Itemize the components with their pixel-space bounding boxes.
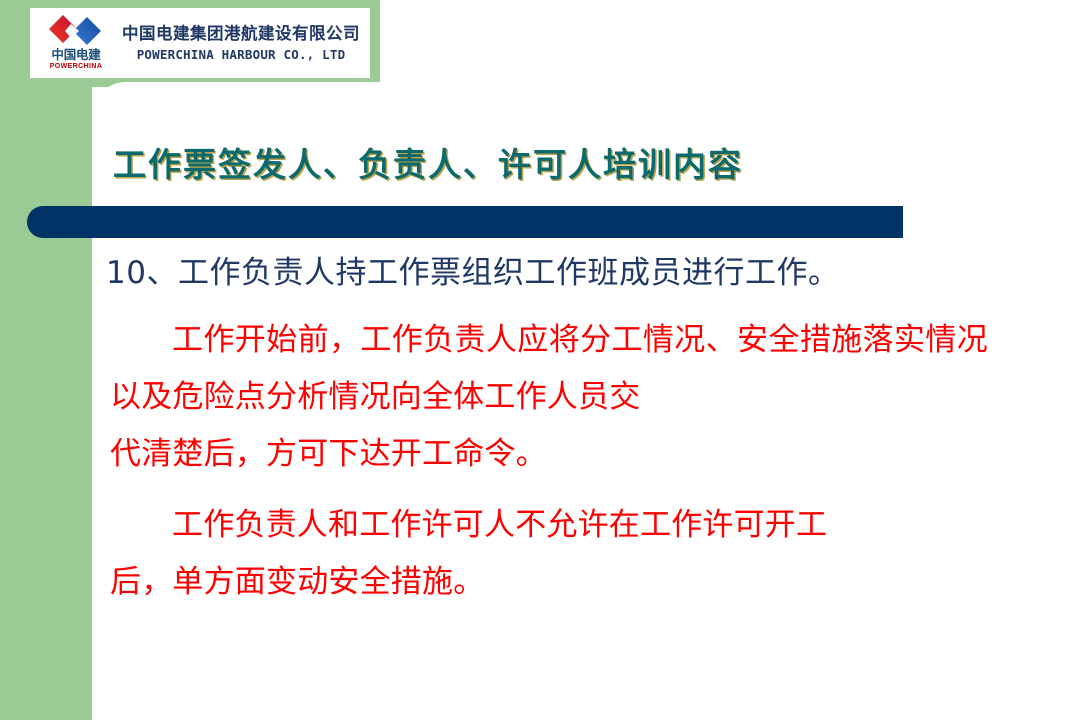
body-paragraph-1-last: 代清楚后，方可下达开工命令。 bbox=[110, 426, 988, 483]
body-paragraph-2-main: 工作负责人和工作许可人不允许在工作许可开工 bbox=[172, 507, 827, 543]
body-paragraph-1-main: 工作开始前，工作负责人应将分工情况、安全措施落实情况以及危险点分析情况向全体工作… bbox=[110, 322, 988, 415]
body-paragraph-1: 工作开始前，工作负责人应将分工情况、安全措施落实情况以及危险点分析情况向全体工作… bbox=[92, 312, 988, 483]
slide-body: 10、工作负责人持工作票组织工作班成员进行工作。 工作开始前，工作负责人应将分工… bbox=[92, 250, 992, 611]
company-name-cn: 中国电建集团港航建设有限公司 bbox=[122, 23, 360, 45]
body-numbered-item: 10、工作负责人持工作票组织工作班成员进行工作。 bbox=[92, 250, 992, 296]
company-name-en: POWERCHINA HARBOUR CO., LTD bbox=[137, 45, 346, 64]
company-logo-box: 中国电建 POWERCHINA 中国电建集团港航建设有限公司 POWERCHIN… bbox=[30, 8, 370, 78]
body-paragraph-2: 工作负责人和工作许可人不允许在工作许可开工后，单方面变动安全措施。 bbox=[92, 497, 988, 611]
powerchina-diamond-icon bbox=[49, 15, 103, 47]
left-green-sidebar bbox=[0, 0, 92, 720]
company-name-block: 中国电建集团港航建设有限公司 POWERCHINA HARBOUR CO., L… bbox=[118, 23, 370, 64]
powerchina-logo: 中国电建 POWERCHINA bbox=[34, 10, 118, 76]
body-paragraph-2-last: 后，单方面变动安全措施。 bbox=[110, 554, 988, 611]
slide-canvas: 中国电建 POWERCHINA 中国电建集团港航建设有限公司 POWERCHIN… bbox=[0, 0, 1080, 720]
title-underline-bar bbox=[27, 206, 903, 238]
slide-title: 工作票签发人、负责人、许可人培训内容 bbox=[113, 138, 973, 186]
logo-brand-cn: 中国电建 bbox=[51, 49, 100, 62]
logo-brand-en: POWERCHINA bbox=[50, 62, 103, 71]
